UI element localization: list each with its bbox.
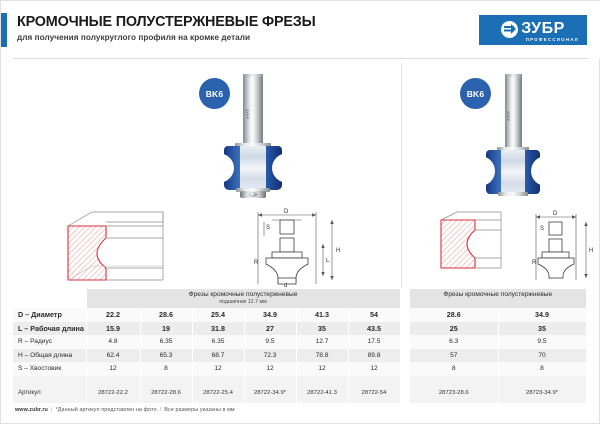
dim-label-d-small: d: [284, 283, 287, 288]
article-cell: 28722-54: [348, 383, 400, 403]
table-row-l: L – Рабочая длина 15.9 19 31.8 27 35 43.…: [13, 322, 586, 336]
article-cell: 28722-22.2: [86, 383, 140, 403]
group-header-left: Фрезы кромочные полустержневые подшипник…: [86, 289, 400, 308]
article-cell: 28723-28.6: [410, 383, 498, 403]
technical-drawings: D H L R S d: [13, 204, 589, 288]
page-subtitle: для получения полукруглого профиля на кр…: [17, 33, 250, 42]
dim-label-r-r: R: [532, 260, 537, 266]
logo-tagline: ПРОФЕССИОНАЛ: [526, 37, 579, 42]
group-header-right: Фрезы кромочные полустержневые: [410, 289, 586, 308]
dim-label-h-r: H: [589, 248, 593, 254]
page-header: КРОМОЧНЫЕ ПОЛУСТЕРЖНЕВЫЕ ФРЕЗЫ для получ…: [1, 1, 600, 59]
article-cell: 28722-34.9*: [244, 383, 296, 403]
dim-label-d: D: [284, 209, 289, 215]
product-photo-right: ЗУБР: [476, 69, 556, 201]
profile-drawing-left: [58, 208, 173, 286]
dim-label-s-r: S: [540, 226, 544, 232]
table-spacer-row: [13, 376, 586, 383]
article-cell: 28723-34.9*: [498, 383, 586, 403]
profile-drawing-right: [433, 210, 509, 276]
zubr-logo: ЗУБР ПРОФЕССИОНАЛ: [479, 15, 587, 45]
row-label-article: Артикул: [13, 383, 86, 403]
row-label-d: D – Диаметр: [13, 308, 86, 322]
row-label-l: L – Рабочая длина: [13, 322, 86, 336]
table-row-h: H – Общая длина 62.4 65.3 68.7 72.3 78.8…: [13, 349, 586, 363]
specifications-table: Фрезы кромочные полустержневые подшипник…: [13, 289, 587, 403]
row-label-r: R – Радиус: [13, 335, 86, 349]
page-footer: www.zubr.ru/*Данный артикул представлен …: [15, 407, 235, 413]
dim-label-l: L: [326, 258, 330, 264]
article-cell: 28722-28.6: [140, 383, 192, 403]
row-label-h: H – Общая длина: [13, 349, 86, 363]
dim-label-r: R: [254, 260, 259, 266]
catalog-page: КРОМОЧНЫЕ ПОЛУСТЕРЖНЕВЫЕ ФРЕЗЫ для получ…: [0, 0, 600, 424]
dimension-drawing-left: D H L R S d: [228, 206, 353, 288]
article-cell: 28722-25.4: [192, 383, 244, 403]
table-row-articles: Артикул 28722-22.2 28722-28.6 28722-25.4…: [13, 383, 586, 403]
table-row-s: S – Хвостовик 12 8 12 12 12 12 8 8: [13, 362, 586, 376]
accent-bar: [1, 13, 7, 47]
dim-label-s: S: [266, 225, 270, 231]
footer-site[interactable]: www.zubr.ru: [15, 407, 48, 413]
page-title: КРОМОЧНЫЕ ПОЛУСТЕРЖНЕВЫЕ ФРЕЗЫ: [17, 14, 315, 30]
table-row-d: D – Диаметр 22.2 28.6 25.4 34.9 41.3 54 …: [13, 308, 586, 322]
arrow-in-circle-icon: [501, 21, 518, 38]
engraving-label-right: ЗУБР: [506, 111, 510, 121]
header-divider: [13, 58, 589, 59]
dim-label-h: H: [336, 248, 340, 254]
row-label-s: S – Хвостовик: [13, 362, 86, 376]
article-cell: 28722-41.3: [296, 383, 348, 403]
logo-wordmark: ЗУБР: [521, 21, 565, 37]
dim-label-d-r: D: [553, 211, 558, 217]
footer-units: Все размеры указаны в мм: [164, 407, 234, 413]
table-row-r: R – Радиус 4.8 6.35 6.35 9.5 12.7 17.5 6…: [13, 335, 586, 349]
dimension-drawing-right: D H R S: [518, 208, 598, 286]
engraving-label: ЗУБР: [245, 109, 249, 119]
table-group-header-row: Фрезы кромочные полустержневые подшипник…: [13, 289, 586, 308]
footer-note: *Данный артикул представлен на фото: [56, 407, 157, 413]
product-photo-left: ЗУБР: [216, 69, 296, 201]
